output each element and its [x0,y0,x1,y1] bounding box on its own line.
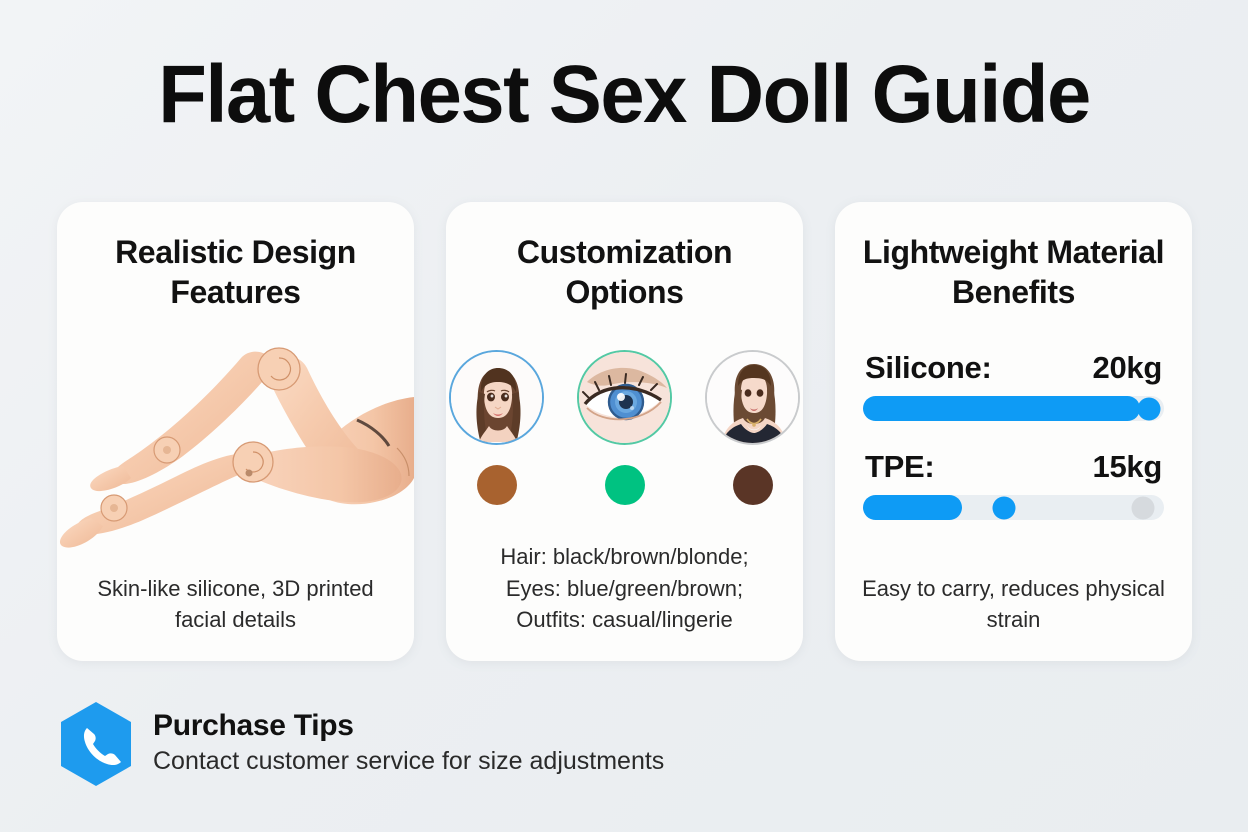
card-caption: Hair: black/brown/blonde; Eyes: blue/gre… [462,541,787,635]
footer-title: Purchase Tips [153,708,664,744]
hair-color-swatch-brown[interactable] [477,465,517,505]
slider-track-tpe[interactable] [863,495,1164,520]
slider-label-tpe: TPE: [865,449,934,485]
caption-line-outfits: Outfits: casual/lingerie [462,604,787,635]
footer-text-block: Purchase Tips Contact customer service f… [153,708,664,780]
slider-value-tpe: 15kg [1093,449,1162,485]
card-customization-options: Customization Options [446,202,803,661]
eye-color-swatch-green[interactable] [605,465,645,505]
outfit-color-swatch-dark-brown[interactable] [733,465,773,505]
footer-subtitle: Contact customer service for size adjust… [153,746,664,776]
page-title: Flat Chest Sex Doll Guide [19,52,1230,138]
hair-option[interactable] [449,350,544,505]
slider-knob-tpe-primary[interactable] [993,496,1016,519]
slider-knob-tpe-secondary[interactable] [1131,496,1154,519]
card-caption: Skin-like silicone, 3D printed facial de… [73,573,398,635]
customization-thumbnails [446,350,803,505]
slider-fill-tpe [863,495,962,520]
caption-line-hair: Hair: black/brown/blonde; [462,541,787,572]
outfit-option[interactable] [705,350,800,505]
eye-option[interactable] [577,350,672,505]
purchase-tips-footer: Purchase Tips Contact customer service f… [57,700,664,788]
slider-fill-silicone [863,396,1140,421]
slider-row-tpe: TPE: 15kg [863,449,1164,520]
slider-track-silicone[interactable] [863,396,1164,421]
slider-value-silicone: 20kg [1093,350,1162,386]
card-lightweight-material: Lightweight Material Benefits Silicone: … [835,202,1192,661]
slider-row-silicone: Silicone: 20kg [863,350,1164,421]
card-caption: Easy to carry, reduces physical strain [851,573,1176,635]
eye-option-thumbnail[interactable] [577,350,672,445]
outfit-option-thumbnail[interactable] [705,350,800,445]
card-title: Realistic Design Features [75,232,396,313]
card-title: Customization Options [464,232,785,313]
phone-icon-badge[interactable] [57,700,135,788]
material-weight-sliders: Silicone: 20kg TPE: 15kg [863,350,1164,548]
card-title: Lightweight Material Benefits [853,232,1174,313]
card-realistic-design: Realistic Design Features [57,202,414,661]
slider-label-silicone: Silicone: [865,350,992,386]
hair-option-thumbnail[interactable] [449,350,544,445]
feature-cards-row: Realistic Design Features [57,202,1192,661]
doll-legs-illustration [57,322,414,552]
slider-knob-silicone[interactable] [1137,397,1160,420]
caption-line-eyes: Eyes: blue/green/brown; [462,573,787,604]
